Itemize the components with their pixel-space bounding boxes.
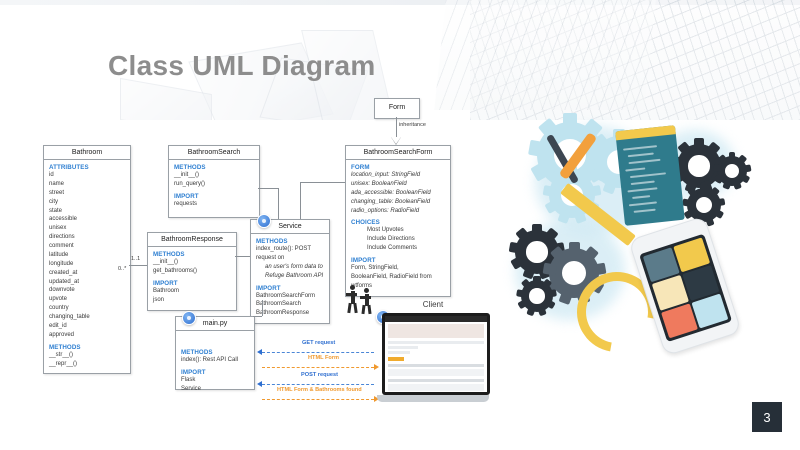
attribute-item: created_at <box>49 269 125 278</box>
label-html-form-bathrooms: HTML Form & Bathrooms found <box>277 387 362 393</box>
attribute-item: upvote <box>49 295 125 304</box>
method-item: index_route(): POST <box>256 245 324 254</box>
gear-icon-dark-6 <box>521 280 553 312</box>
method-item: Refuge Bathroom API <box>256 272 324 281</box>
class-name-bathroom-response: BathroomResponse <box>148 233 236 247</box>
arrow-head-post-request <box>257 381 262 387</box>
section-import: IMPORT <box>153 280 231 287</box>
browser-header <box>385 316 487 322</box>
attribute-item: comment <box>49 242 125 251</box>
attribute-item: city <box>49 198 125 207</box>
section-methods: METHODS <box>181 349 249 356</box>
attribute-item: country <box>49 304 125 313</box>
connector-response-service <box>235 256 250 257</box>
section-attributes: ATTRIBUTES <box>49 164 125 171</box>
class-box-bathroom-search[interactable]: BathroomSearch METHODS __init__() run_qu… <box>168 145 260 218</box>
decorative-illustration <box>505 120 800 350</box>
form-field-item: unisex: BooleanField <box>351 180 445 189</box>
import-item: Bathroom <box>153 287 231 296</box>
method-item: run_query() <box>174 180 254 189</box>
attribute-item: accessible <box>49 215 125 224</box>
attribute-item: street <box>49 189 125 198</box>
attribute-item: directions <box>49 233 125 242</box>
connector-search-service-v <box>278 188 279 219</box>
method-item: __repr__() <box>49 360 125 369</box>
glass-facade-mid <box>434 0 656 110</box>
actor-icons <box>346 285 380 315</box>
attribute-item: unisex <box>49 224 125 233</box>
connector-search-service-h <box>258 188 278 189</box>
attribute-item: latitude <box>49 251 125 260</box>
arrow-line-post-request <box>262 384 374 385</box>
import-item: BooleanField, RadioField from <box>351 273 445 282</box>
section-import: IMPORT <box>181 369 249 376</box>
class-name-bathroom-search-form: BathroomSearchForm <box>346 146 450 160</box>
choice-item: Include Directions <box>351 235 445 244</box>
section-methods: METHODS <box>49 344 125 351</box>
label-get-request: GET request <box>302 340 335 346</box>
form-field-item: radio_options: RadioField <box>351 207 445 216</box>
method-item: request on <box>256 254 324 263</box>
method-item: an user's form data to <box>256 263 324 272</box>
method-item: __init__() <box>153 258 231 267</box>
method-item: get_bathrooms() <box>153 267 231 276</box>
label-html-form: HTML Form <box>308 355 339 361</box>
connector-main-service-v <box>262 300 263 316</box>
client-node: Client <box>378 300 488 406</box>
attribute-item: state <box>49 207 125 216</box>
section-methods: METHODS <box>174 164 254 171</box>
import-item: BathroomResponse <box>256 309 324 318</box>
class-box-form[interactable]: Form <box>374 98 420 119</box>
form-field-item: ada_accessible: BooleanField <box>351 189 445 198</box>
class-box-bathroom-response[interactable]: BathroomResponse METHODS __init__() get_… <box>147 232 237 311</box>
form-field-item: changing_table: BooleanField <box>351 198 445 207</box>
attribute-item: approved <box>49 331 125 340</box>
import-item: json <box>153 296 231 305</box>
section-import: IMPORT <box>256 285 324 292</box>
service-node-icon <box>257 214 271 228</box>
main-node-icon <box>182 311 196 325</box>
import-item: Form, StringField, <box>351 264 445 273</box>
slide-number: 3 <box>752 402 782 432</box>
client-label: Client <box>378 300 488 309</box>
section-import: IMPORT <box>174 193 254 200</box>
arrow-head-get-request <box>257 349 262 355</box>
import-item: BathroomSearchForm <box>256 292 324 301</box>
section-choices: CHOICES <box>351 219 445 226</box>
class-name-bathroom-search: BathroomSearch <box>169 146 259 160</box>
gear-icon-dark-2 <box>717 156 747 186</box>
laptop-illustration <box>382 313 490 395</box>
connector-bathroom-response <box>129 265 147 266</box>
method-item: index(): Rest API Call <box>181 356 249 365</box>
class-name-form: Form <box>375 99 419 117</box>
import-item: BathroomSearch <box>256 300 324 309</box>
class-box-bathroom-search-form[interactable]: BathroomSearchForm FORM location_input: … <box>345 145 451 297</box>
code-window-illustration <box>615 125 685 226</box>
laptop-base <box>377 395 489 402</box>
slide-title: Class UML Diagram <box>108 50 376 82</box>
class-box-main[interactable]: main.py METHODS index(): Rest API Call I… <box>175 316 255 390</box>
section-import: IMPORT <box>351 257 445 264</box>
arrow-line-html-form-bathrooms <box>262 399 374 400</box>
connector-main-service-h <box>253 316 262 317</box>
choice-item: Most Upvotes <box>351 226 445 235</box>
choice-item: Include Comments <box>351 244 445 253</box>
import-item: Flask <box>181 376 249 385</box>
connector-service-form-v <box>300 182 301 219</box>
label-post-request: POST request <box>301 372 338 378</box>
form-field-item: location_input: StringField <box>351 171 445 180</box>
attribute-item: edit_id <box>49 322 125 331</box>
attribute-item: updated_at <box>49 278 125 287</box>
gear-icon-dark-3 <box>687 188 721 222</box>
connector-inheritance-line <box>396 117 397 137</box>
section-methods: METHODS <box>256 238 324 245</box>
attribute-item: longitude <box>49 260 125 269</box>
inheritance-label: inheritance <box>399 122 426 128</box>
class-name-bathroom: Bathroom <box>44 146 130 160</box>
page-banner <box>388 324 484 338</box>
multiplicity-label: 0..* <box>118 266 126 272</box>
attribute-item: downvote <box>49 286 125 295</box>
page-button <box>388 357 404 361</box>
class-box-bathroom[interactable]: Bathroom ATTRIBUTES id name street city … <box>43 145 131 374</box>
section-form: FORM <box>351 164 445 171</box>
connector-service-form-h <box>300 182 345 183</box>
inheritance-arrow-fill <box>391 137 401 144</box>
multiplicity-label: 1..1 <box>131 256 140 262</box>
method-item: __str__() <box>49 351 125 360</box>
import-item: Service <box>181 385 249 394</box>
arrow-line-html-form <box>262 367 374 368</box>
attribute-item: changing_table <box>49 313 125 322</box>
import-item: requests <box>174 200 254 209</box>
method-item: __init__() <box>174 171 254 180</box>
slide-canvas: Class UML Diagram <box>0 0 800 450</box>
arrow-line-get-request <box>262 352 374 353</box>
section-methods: METHODS <box>153 251 231 258</box>
attribute-item: id <box>49 171 125 180</box>
browser-screenshot <box>385 316 487 392</box>
attribute-item: name <box>49 180 125 189</box>
